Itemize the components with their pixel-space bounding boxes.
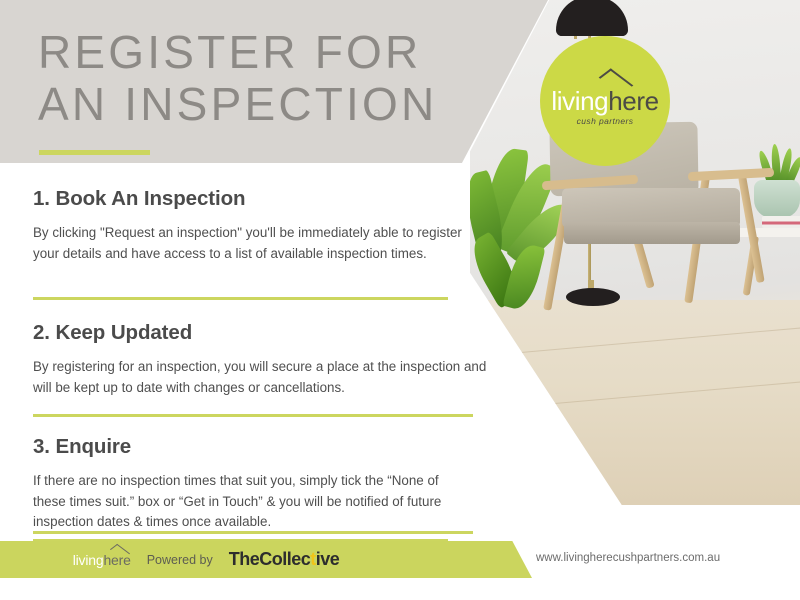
photo-lamp-shade	[556, 0, 628, 36]
collective-text-post: ive	[316, 549, 340, 569]
photo-floor	[470, 300, 800, 505]
footer-content: livinghere Powered by TheCollective	[0, 541, 532, 578]
logo-lockup: livinghere cush partners	[540, 88, 670, 126]
footer-brand-logo: livinghere	[73, 552, 131, 568]
photo-chair-skirt	[564, 222, 740, 244]
step-1-body: By clicking "Request an inspection" you'…	[33, 223, 473, 264]
step-2-body: By registering for an inspection, you wi…	[33, 357, 503, 398]
the-collective-logo: TheCollective	[229, 549, 340, 570]
footer-bar: livinghere Powered by TheCollective	[0, 541, 532, 578]
footer-divider	[33, 531, 473, 534]
footer-logo-living: living	[73, 552, 104, 568]
logo-word-living: living	[551, 86, 608, 116]
step-2-title: 2. Keep Updated	[33, 321, 503, 345]
flyer-canvas: REGISTER FOR AN INSPECTION livinghere cu…	[0, 0, 800, 600]
step-section-1: 1. Book An Inspection By clicking "Reque…	[33, 187, 473, 264]
photo-planter-pot	[754, 180, 800, 218]
brand-logo: livinghere cush partners	[540, 36, 670, 166]
page-title: REGISTER FOR AN INSPECTION	[38, 26, 458, 130]
website-url[interactable]: www.livingherecushpartners.com.au	[536, 552, 720, 564]
step-section-2: 2. Keep Updated By registering for an in…	[33, 321, 503, 398]
photo-books	[762, 216, 800, 228]
step-1-divider	[33, 297, 448, 300]
step-3-body: If there are no inspection times that su…	[33, 471, 473, 533]
step-2-divider	[33, 414, 473, 417]
step-section-3: 3. Enquire If there are no inspection ti…	[33, 435, 473, 533]
step-1-title: 1. Book An Inspection	[33, 187, 473, 211]
photo-side-table	[736, 228, 800, 237]
powered-by-label: Powered by	[147, 553, 213, 567]
title-underline-rule	[39, 150, 150, 155]
logo-wordmark: livinghere	[540, 88, 670, 114]
collective-text-pre: TheCollec	[229, 549, 311, 569]
step-3-title: 3. Enquire	[33, 435, 473, 459]
logo-tagline: cush partners	[540, 117, 670, 126]
